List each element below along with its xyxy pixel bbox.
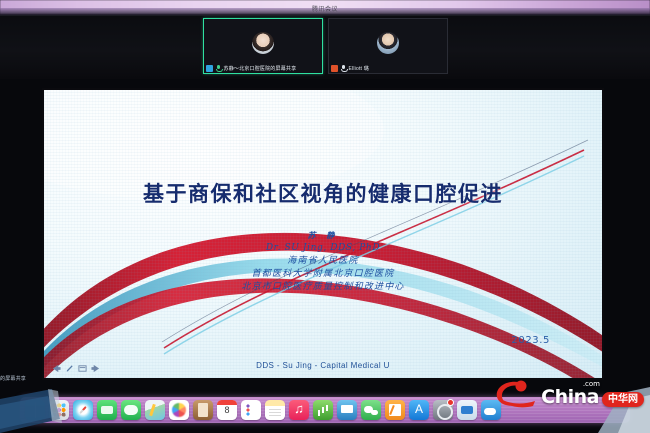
- pen-annotate-icon[interactable]: [65, 364, 74, 373]
- tile-namebar: Elliott 璐: [329, 63, 371, 73]
- previous-slide-arrow-icon[interactable]: [52, 364, 61, 373]
- tencent-meeting-icon[interactable]: [457, 400, 477, 420]
- slide-authors: 苏 静 Dr. SU Jing, DDS, PhD 海南省人民医院 首都医科大学…: [44, 230, 602, 294]
- next-slide-arrow-icon[interactable]: [91, 364, 100, 373]
- meeting-titlebar: 腾讯会议: [0, 0, 650, 16]
- maps-icon[interactable]: [145, 400, 165, 420]
- reminders-icon[interactable]: [241, 400, 261, 420]
- keynote-icon[interactable]: [337, 400, 357, 420]
- watermark-suffix: .com: [583, 381, 600, 388]
- appstore-icon[interactable]: [409, 400, 429, 420]
- presentation-slide: 基于商保和社区视角的健康口腔促进 苏 静 Dr. SU Jing, DDS, P…: [44, 90, 602, 378]
- slide-caption: DDS - Su Jing - Capital Medical U: [44, 361, 602, 370]
- watermark-badge: 中华网: [602, 392, 644, 408]
- monitor-photo: 腾讯会议 苏静～北京口腔医院的屏幕共享 Elliott 璐: [0, 0, 650, 433]
- desk-reflection-left: [0, 389, 120, 433]
- contacts-icon[interactable]: [193, 400, 213, 420]
- meeting-app-title: 腾讯会议: [312, 4, 338, 13]
- watermark-brand: China .com: [541, 388, 599, 407]
- watermark-brand-text: China: [541, 386, 599, 408]
- participant-tile-sharing[interactable]: 苏静～北京口腔医院的屏幕共享: [203, 18, 323, 74]
- author-name-cn: 苏 静: [44, 230, 602, 242]
- numbers-icon[interactable]: [313, 400, 333, 420]
- author-name-en: Dr. SU Jing, DDS, PhD: [44, 242, 602, 255]
- slide-title: 基于商保和社区视角的健康口腔促进: [44, 178, 602, 208]
- participant-name: Elliott 璐: [349, 65, 369, 72]
- microphone-icon: [340, 65, 347, 72]
- presentation-slide-frame: 基于商保和社区视角的健康口腔促进 苏 静 Dr. SU Jing, DDS, P…: [42, 88, 604, 380]
- affiliation-3: 北京市口腔医疗质量控制和改进中心: [44, 281, 602, 294]
- wechat-icon[interactable]: [361, 400, 381, 420]
- music-icon[interactable]: [289, 400, 309, 420]
- avatar: [252, 32, 274, 54]
- host-icon: [331, 65, 338, 72]
- slide-overview-icon[interactable]: [78, 364, 87, 373]
- presenter-toolbar[interactable]: [50, 363, 102, 374]
- tile-namebar: 苏静～北京口腔医院的屏幕共享: [204, 63, 299, 73]
- settings-icon[interactable]: [433, 400, 453, 420]
- photos-icon[interactable]: [169, 400, 189, 420]
- avatar: [377, 32, 399, 54]
- participant-tile-elliott[interactable]: Elliott 璐: [328, 18, 448, 74]
- affiliation-1: 海南省人民医院: [44, 255, 602, 268]
- notes-icon[interactable]: [265, 400, 285, 420]
- share-label: 的屏幕共享: [0, 372, 42, 384]
- pages-icon[interactable]: [385, 400, 405, 420]
- participant-tiles: 苏静～北京口腔医院的屏幕共享 Elliott 璐: [0, 18, 650, 78]
- slide-date: 2023.5: [511, 335, 550, 346]
- messages-icon[interactable]: [121, 400, 141, 420]
- participant-name: 苏静～北京口腔医院的屏幕共享: [224, 65, 297, 72]
- watermark: China .com 中华网: [541, 388, 644, 407]
- microphone-icon: [215, 65, 222, 72]
- affiliation-2: 首都医科大学附属北京口腔医院: [44, 268, 602, 281]
- notification-badge: [447, 399, 454, 406]
- video-strip: 苏静～北京口腔医院的屏幕共享 Elliott 璐: [0, 15, 650, 79]
- screen-share-icon: [206, 65, 213, 72]
- calendar-icon[interactable]: [217, 400, 237, 420]
